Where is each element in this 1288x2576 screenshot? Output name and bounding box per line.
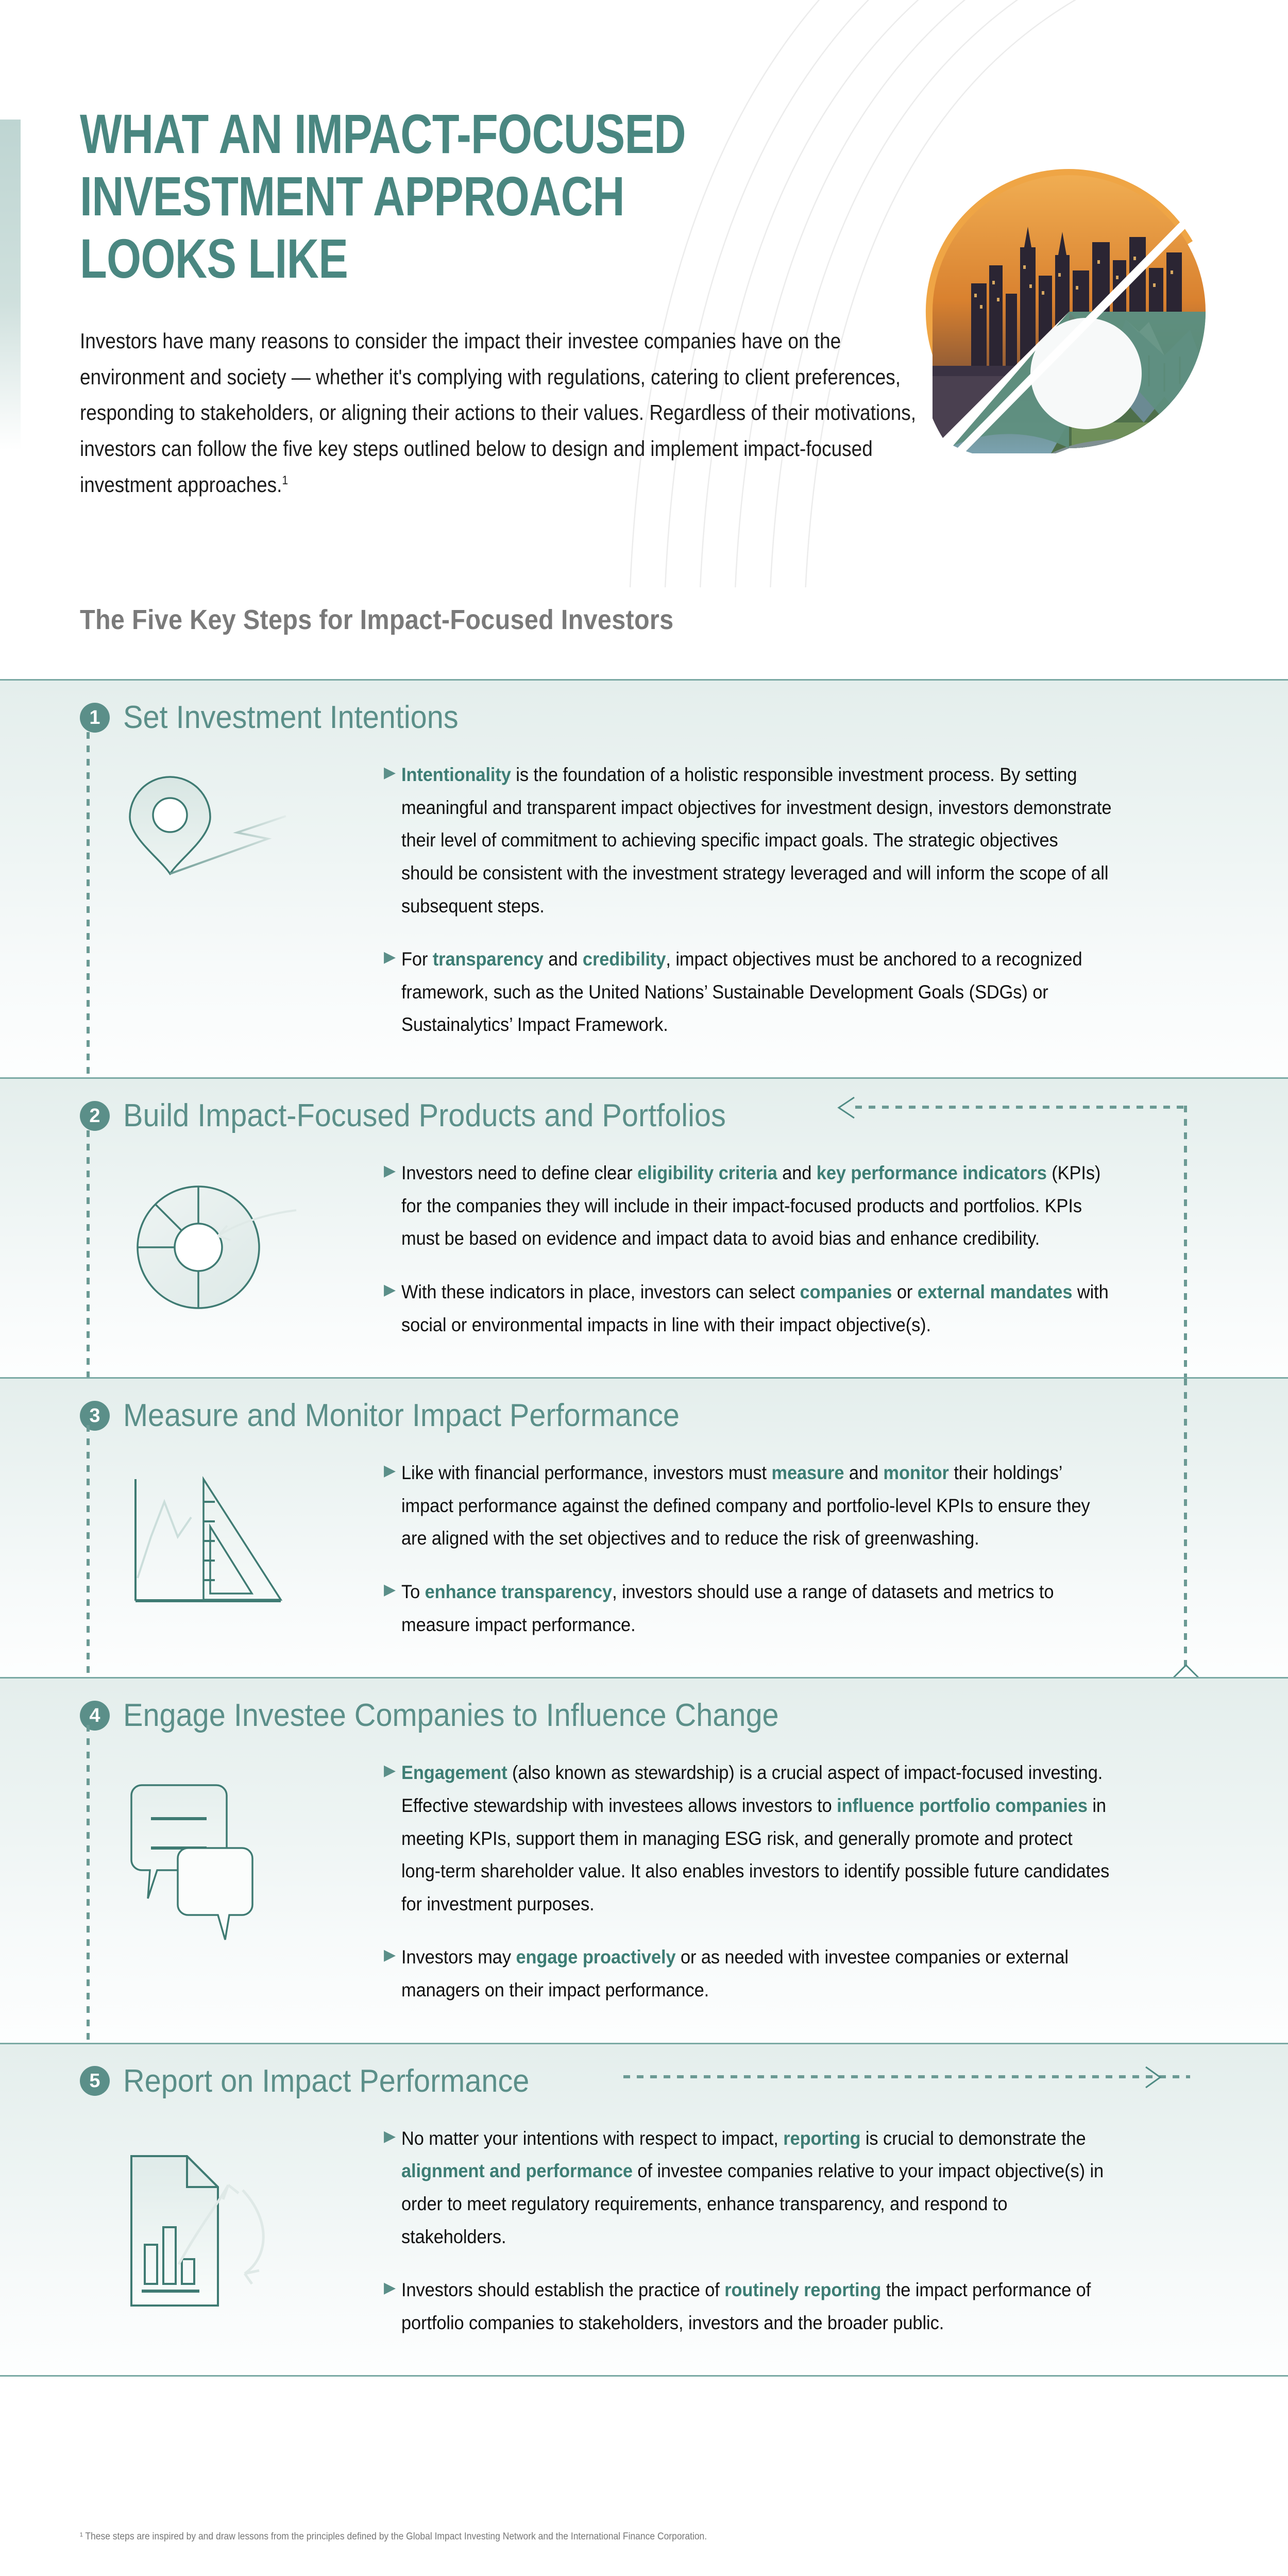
step-header-5: 5 Report on Impact Performance	[0, 2044, 1288, 2099]
page-title-line1: What an Impact-Focused	[80, 103, 756, 165]
step-title-4: Engage Investee Companies to Influence C…	[123, 1697, 779, 1734]
bullet-text: Like with financial performance, investo…	[401, 1456, 1113, 1555]
step-section-2: 2 Build Impact-Focused Products and Port…	[0, 1077, 1288, 1377]
bullet-text: Engagement (also known as stewardship) i…	[401, 1756, 1113, 1920]
intro-footnote-marker: 1	[282, 473, 288, 487]
bullet-marker-icon: ▶	[384, 2122, 401, 2253]
step-section-4: 4 Engage Investee Companies to Influence…	[0, 1677, 1288, 2042]
connector-dots-down-4	[87, 1725, 90, 2049]
step-section-5: 5 Report on Impact Performance	[0, 2043, 1288, 2377]
header-section: What an Impact-Focused Investment Approa…	[0, 0, 1288, 587]
bullet-marker-icon: ▶	[384, 1157, 401, 1255]
step-body-1: ▶ Intentionality is the foundation of a …	[0, 736, 1288, 1077]
connector-arrow-left-2	[834, 1094, 858, 1121]
step-bullets-3: ▶ Like with financial performance, inves…	[368, 1456, 1167, 1641]
bullet-marker-icon: ▶	[384, 1456, 401, 1555]
step-header-3: 3 Measure and Monitor Impact Performance	[0, 1379, 1288, 1434]
header-circle-image	[922, 165, 1216, 474]
connector-dots-right-3	[1184, 1379, 1187, 1667]
step-icon-3	[80, 1456, 368, 1641]
step-number-badge-2: 2	[80, 1101, 110, 1131]
step-body-2: ▶ Investors need to define clear eligibi…	[0, 1134, 1288, 1377]
bullet-text: For transparency and credibility, impact…	[401, 943, 1113, 1041]
bullet-marker-icon: ▶	[384, 758, 401, 922]
bullet-item: ▶ Investors should establish the practic…	[384, 2274, 1167, 2339]
bullet-text: Investors may engage proactively or as n…	[401, 1941, 1113, 2006]
bullet-item: ▶ For transparency and credibility, impa…	[384, 943, 1167, 1041]
steps-section-heading: The Five Key Steps for Impact-Focused In…	[80, 604, 673, 636]
bullet-text: Investors should establish the practice …	[401, 2274, 1113, 2339]
bullet-marker-icon: ▶	[384, 1941, 401, 2006]
bullet-marker-icon: ▶	[384, 2274, 401, 2339]
step-title-2: Build Impact-Focused Products and Portfo…	[123, 1097, 726, 1134]
chart-ruler-icon	[126, 1470, 322, 1624]
step-title-5: Report on Impact Performance	[123, 2063, 529, 2099]
bullet-marker-icon: ▶	[384, 1276, 401, 1341]
intro-paragraph: Investors have many reasons to consider …	[80, 323, 923, 503]
bullet-item: ▶ Like with financial performance, inves…	[384, 1456, 1167, 1555]
step-body-3: ▶ Like with financial performance, inves…	[0, 1434, 1288, 1677]
connector-dots-down-3	[87, 1425, 90, 1714]
bullet-item: ▶ With these indicators in place, invest…	[384, 1276, 1167, 1341]
step-title-1: Set Investment Intentions	[123, 699, 459, 736]
bullet-text: No matter your intentions with respect t…	[401, 2122, 1113, 2253]
step-icon-2	[80, 1157, 368, 1341]
steps-list: 1 Set Investment Intentions	[0, 679, 1288, 2377]
bullet-text: To enhance transparency, investors shoul…	[401, 1575, 1113, 1641]
report-document-icon	[121, 2136, 327, 2321]
bullet-marker-icon: ▶	[384, 1756, 401, 1920]
donut-chart-icon	[126, 1170, 322, 1340]
connector-dots-horizontal-5	[623, 2075, 1190, 2078]
step-number-badge-4: 4	[80, 1701, 110, 1731]
page-title: What an Impact-Focused Investment Approa…	[80, 103, 756, 290]
step-header-1: 1 Set Investment Intentions	[0, 681, 1288, 736]
bullet-item: ▶ Intentionality is the foundation of a …	[384, 758, 1167, 922]
step-body-5: ▶ No matter your intentions with respect…	[0, 2099, 1288, 2376]
step-icon-5	[80, 2122, 368, 2340]
step-bullets-5: ▶ No matter your intentions with respect…	[368, 2122, 1167, 2340]
step-number-badge-1: 1	[80, 703, 110, 733]
footnote-text: ¹ These steps are inspired by and draw l…	[80, 2531, 707, 2543]
step-icon-4	[80, 1756, 368, 2006]
bullet-marker-icon: ▶	[384, 943, 401, 1041]
bullet-text: Intentionality is the foundation of a ho…	[401, 758, 1113, 922]
bullet-item: ▶ Engagement (also known as stewardship)…	[384, 1756, 1167, 1920]
step-header-4: 4 Engage Investee Companies to Influence…	[0, 1679, 1288, 1734]
step-number-badge-5: 5	[80, 2066, 110, 2096]
bullet-text: With these indicators in place, investor…	[401, 1276, 1113, 1341]
connector-dots-horizontal-2	[855, 1106, 1185, 1109]
location-pin-icon	[113, 772, 335, 942]
step-bullets-1: ▶ Intentionality is the foundation of a …	[368, 758, 1167, 1041]
connector-arrow-right-5	[1141, 2064, 1165, 2091]
step-section-1: 1 Set Investment Intentions	[0, 679, 1288, 1077]
bullet-item: ▶ Investors need to define clear eligibi…	[384, 1157, 1167, 1255]
bullet-item: ▶ Investors may engage proactively or as…	[384, 1941, 1167, 2006]
bullet-item: ▶ No matter your intentions with respect…	[384, 2122, 1167, 2253]
bullet-item: ▶ To enhance transparency, investors sho…	[384, 1575, 1167, 1641]
step-bullets-2: ▶ Investors need to define clear eligibi…	[368, 1157, 1167, 1341]
bullet-text: Investors need to define clear eligibili…	[401, 1157, 1113, 1255]
speech-bubbles-icon	[126, 1770, 322, 1945]
page-title-line2: Investment Approach Looks Like	[80, 165, 756, 290]
bullet-marker-icon: ▶	[384, 1575, 401, 1641]
header-accent-bar	[0, 120, 21, 450]
step-icon-1	[80, 758, 368, 1041]
step-body-4: ▶ Engagement (also known as stewardship)…	[0, 1734, 1288, 2042]
intro-paragraph-text: Investors have many reasons to consider …	[80, 329, 916, 497]
step-title-3: Measure and Monitor Impact Performance	[123, 1397, 680, 1434]
step-bullets-4: ▶ Engagement (also known as stewardship)…	[368, 1756, 1167, 2006]
step-section-3: 3 Measure and Monitor Impact Performance	[0, 1377, 1288, 1677]
step-number-badge-3: 3	[80, 1401, 110, 1431]
